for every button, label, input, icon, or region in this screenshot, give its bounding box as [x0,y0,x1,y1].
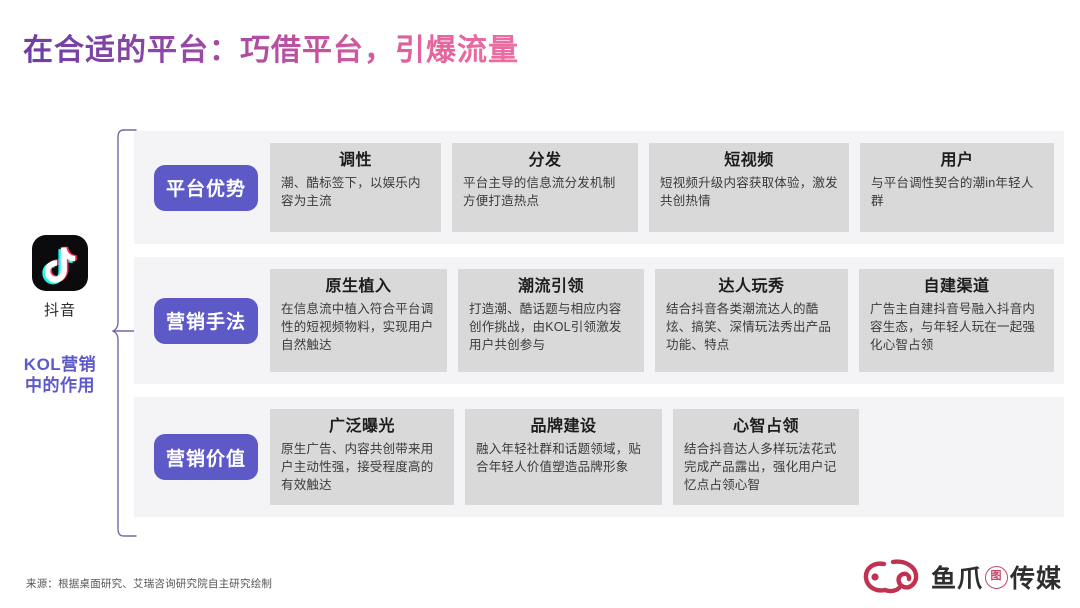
brand-name: 鱼爪 图 传媒 [931,559,1062,595]
kol-role-caption-line2: 中的作用 [14,375,106,396]
card-title: 品牌建设 [476,417,651,438]
row-badge-platform-advantage[interactable]: 平台优势 [154,165,258,211]
fish-claw-mark-icon [863,558,921,596]
card-empty-slot [870,409,1054,505]
card-wide-exposure[interactable]: 广泛曝光 原生广告、内容共创带来用户主动性强，接受程度高的有效触达 [270,409,454,505]
row-platform-advantage: 平台优势 调性 潮、酷标签下，以娱乐内容为主流 分发 平台主导的信息流分发机制方… [134,131,1064,244]
card-title: 潮流引领 [469,277,633,298]
card-users[interactable]: 用户 与平台调性契合的潮in年轻人群 [860,143,1054,232]
left-column: 抖音 KOL营销 中的作用 [14,235,106,397]
card-body: 短视频升级内容获取体验，激发共创热情 [660,174,838,210]
card-title: 达人玩秀 [666,277,837,298]
card-title: 分发 [463,151,627,172]
row-marketing-methods: 营销手法 原生植入 在信息流中植入符合平台调性的短视频物料，实现用户自然触达 潮… [134,257,1064,384]
row-badge-marketing-methods[interactable]: 营销手法 [154,298,258,344]
card-body: 潮、酷标签下，以娱乐内容为主流 [281,174,430,210]
page-title: 在合适的平台：巧借平台，引爆流量 [23,25,519,69]
brand-seal-icon: 图 [985,566,1008,589]
card-native-placement[interactable]: 原生植入 在信息流中植入符合平台调性的短视频物料，实现用户自然触达 [270,269,447,372]
card-trend-leading[interactable]: 潮流引领 打造潮、酷话题与相应内容创作挑战，由KOL引领激发用户共创参与 [458,269,644,372]
card-title: 调性 [281,151,430,172]
card-owned-channel[interactable]: 自建渠道 广告主自建抖音号融入抖音内容生态，与年轻人玩在一起强化心智占领 [859,269,1054,372]
kol-role-caption-line1: KOL营销 [14,354,106,375]
row2-cards: 原生植入 在信息流中植入符合平台调性的短视频物料，实现用户自然触达 潮流引领 打… [270,269,1054,372]
row1-cards: 调性 潮、酷标签下，以娱乐内容为主流 分发 平台主导的信息流分发机制方便打造热点… [270,143,1054,232]
card-title: 用户 [871,151,1043,172]
card-influencer-show[interactable]: 达人玩秀 结合抖音各类潮流达人的酷炫、搞笑、深情玩法秀出产品功能、特点 [655,269,848,372]
card-body: 原生广告、内容共创带来用户主动性强，接受程度高的有效触达 [281,440,443,494]
card-tonality[interactable]: 调性 潮、酷标签下，以娱乐内容为主流 [270,143,441,232]
source-note: 来源：根据桌面研究、艾瑞咨询研究院自主研究绘制 [26,576,272,591]
card-title: 心智占领 [684,417,848,438]
matrix-content: 平台优势 调性 潮、酷标签下，以娱乐内容为主流 分发 平台主导的信息流分发机制方… [134,131,1064,530]
card-body: 在信息流中植入符合平台调性的短视频物料，实现用户自然触达 [281,300,436,354]
card-body: 打造潮、酷话题与相应内容创作挑战，由KOL引领激发用户共创参与 [469,300,633,354]
card-title: 短视频 [660,151,838,172]
platform-label: 抖音 [14,299,106,320]
card-body: 平台主导的信息流分发机制方便打造热点 [463,174,627,210]
row-badge-marketing-value[interactable]: 营销价值 [154,434,258,480]
kol-role-caption: KOL营销 中的作用 [14,354,106,397]
card-short-video[interactable]: 短视频 短视频升级内容获取体验，激发共创热情 [649,143,849,232]
card-title: 广泛曝光 [281,417,443,438]
card-body: 与平台调性契合的潮in年轻人群 [871,174,1043,210]
brand-name-part2: 传媒 [1010,559,1062,595]
card-title: 原生植入 [281,277,436,298]
card-distribution[interactable]: 分发 平台主导的信息流分发机制方便打造热点 [452,143,638,232]
card-mindshare[interactable]: 心智占领 结合抖音达人多样玩法花式完成产品露出，强化用户记忆点占领心智 [673,409,859,505]
brand-name-part1: 鱼爪 [931,559,983,595]
card-body: 结合抖音各类潮流达人的酷炫、搞笑、深情玩法秀出产品功能、特点 [666,300,837,354]
douyin-logo-icon [32,235,88,291]
row-marketing-value: 营销价值 广泛曝光 原生广告、内容共创带来用户主动性强，接受程度高的有效触达 品… [134,397,1064,517]
row3-cards: 广泛曝光 原生广告、内容共创带来用户主动性强，接受程度高的有效触达 品牌建设 融… [270,409,1054,505]
card-body: 广告主自建抖音号融入抖音内容生态，与年轻人玩在一起强化心智占领 [870,300,1043,354]
brand-logo: 鱼爪 图 传媒 [863,558,1062,596]
card-body: 融入年轻社群和话题领域，贴合年轻人价值塑造品牌形象 [476,440,651,476]
card-brand-building[interactable]: 品牌建设 融入年轻社群和话题领域，贴合年轻人价值塑造品牌形象 [465,409,662,505]
card-body: 结合抖音达人多样玩法花式完成产品露出，强化用户记忆点占领心智 [684,440,848,494]
card-title: 自建渠道 [870,277,1043,298]
